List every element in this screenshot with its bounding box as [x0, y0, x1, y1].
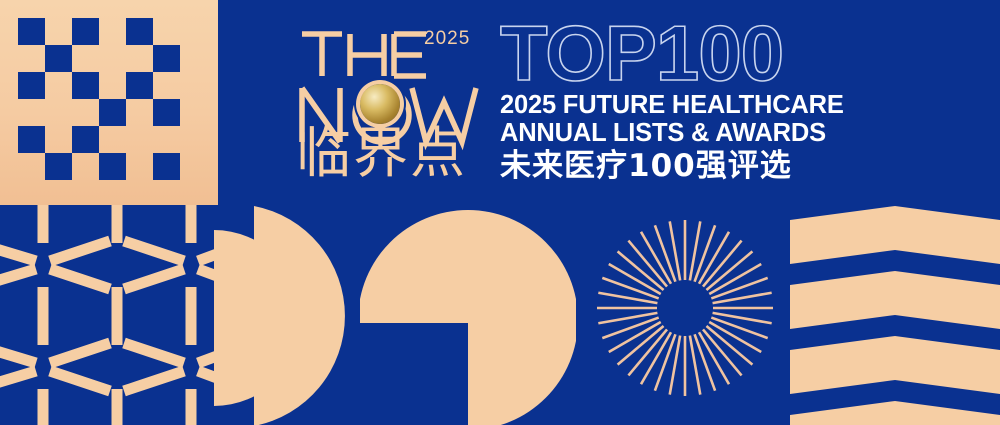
checker-cell: [45, 72, 72, 99]
checker-cell: [72, 99, 99, 126]
checker-cell: [99, 45, 126, 72]
checker-cell: [153, 126, 180, 153]
checker-cell: [153, 99, 180, 126]
checker-cell: [99, 126, 126, 153]
checker-cell: [72, 126, 99, 153]
subtitle-en-line2: ANNUAL LISTS & AWARDS: [500, 120, 840, 146]
checker-cell: [45, 99, 72, 126]
checker-cell: [18, 153, 45, 180]
checker-cell: [72, 18, 99, 45]
checker-cell: [72, 45, 99, 72]
checker-cell: [18, 18, 45, 45]
checker-cell: [126, 45, 153, 72]
checker-cell: [72, 72, 99, 99]
page-title: TOP100: [500, 18, 840, 90]
checker-cell: [153, 45, 180, 72]
checker-cell: [45, 45, 72, 72]
checker-cell: [99, 72, 126, 99]
checker-cell: [45, 153, 72, 180]
checkerboard-pattern: [0, 0, 218, 205]
checker-cell: [18, 72, 45, 99]
checker-cell: [126, 153, 153, 180]
gold-sphere-icon: [360, 84, 400, 124]
headline-block: TOP100 2025 FUTURE HEALTHCARE ANNUAL LIS…: [500, 18, 840, 183]
checker-cell: [99, 153, 126, 180]
logo-year: 2025: [424, 28, 470, 50]
sunburst-pattern: [595, 218, 775, 398]
subtitle-en-line1: 2025 FUTURE HEALTHCARE: [500, 92, 840, 118]
checker-cell: [99, 99, 126, 126]
notched-circle-shape: [360, 210, 576, 425]
checker-cell: [18, 99, 45, 126]
checker-cell: [126, 72, 153, 99]
checker-cell: [126, 99, 153, 126]
subtitle-cn: 未来医疗100强评选: [500, 149, 840, 184]
checker-cell: [153, 153, 180, 180]
checker-cell: [18, 126, 45, 153]
logo-chinese: 临界点: [296, 126, 491, 181]
checker-cell: [126, 18, 153, 45]
checker-cell: [153, 18, 180, 45]
hexagon-lattice-pattern: [0, 205, 222, 425]
checker-cell: [99, 18, 126, 45]
checker-cell: [45, 18, 72, 45]
checker-cell: [45, 126, 72, 153]
checker-cell: [18, 45, 45, 72]
award-banner: 2025 临界点 TOP100 2025 FUTURE HEALTHCARE A…: [0, 0, 1000, 425]
checker-cell: [126, 126, 153, 153]
chevron-stripe-pattern: [790, 200, 1000, 425]
checker-cell: [153, 72, 180, 99]
checker-cell: [72, 153, 99, 180]
